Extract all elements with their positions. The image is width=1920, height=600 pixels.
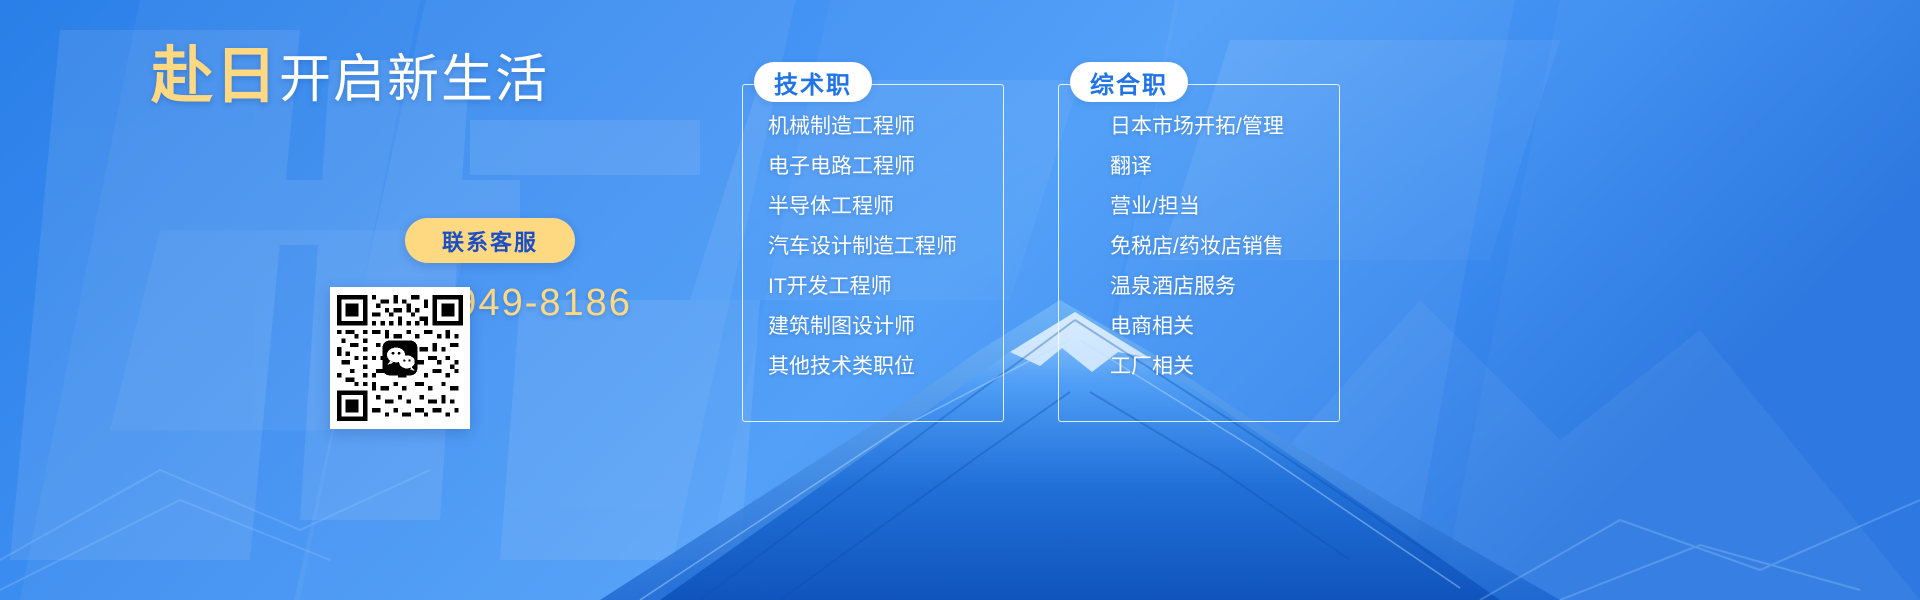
list-item[interactable]: 免税店/药妆店销售 <box>1110 236 1284 257</box>
wechat-qr-code[interactable] <box>330 287 470 429</box>
list-item[interactable]: 电子电路工程师 <box>768 156 957 177</box>
headline-rest: 开启新生活 <box>279 51 549 109</box>
job-list-technical: 机械制造工程师 电子电路工程师 半导体工程师 汽车设计制造工程师 IT开发工程师… <box>768 116 957 396</box>
contact-support-button[interactable]: 联系客服 <box>405 218 575 263</box>
list-item[interactable]: 汽车设计制造工程师 <box>768 236 957 257</box>
list-item[interactable]: 工厂相关 <box>1110 356 1284 377</box>
list-item[interactable]: 其他技术类职位 <box>768 356 957 377</box>
contact-column: 赴日开启新生活 联系客服 130-1949-8186 <box>0 0 700 600</box>
list-item[interactable]: IT开发工程师 <box>768 276 957 297</box>
headline-highlight: 赴日 <box>151 42 279 111</box>
qr-code-icon <box>337 294 463 422</box>
list-item[interactable]: 翻译 <box>1110 156 1284 177</box>
list-item[interactable]: 温泉酒店服务 <box>1110 276 1284 297</box>
job-panel-technical: 技术职 机械制造工程师 电子电路工程师 半导体工程师 汽车设计制造工程师 IT开… <box>742 62 1004 422</box>
promotional-banner: 赴日开启新生活 联系客服 130-1949-8186 <box>0 0 1920 600</box>
job-list-general: 日本市场开拓/管理 翻译 营业/担当 免税店/药妆店销售 温泉酒店服务 电商相关… <box>1110 116 1284 396</box>
panel-badge-general: 综合职 <box>1070 62 1188 102</box>
list-item[interactable]: 电商相关 <box>1110 316 1284 337</box>
list-item[interactable]: 营业/担当 <box>1110 196 1284 217</box>
list-item[interactable]: 日本市场开拓/管理 <box>1110 116 1284 137</box>
job-panel-general: 综合职 日本市场开拓/管理 翻译 营业/担当 免税店/药妆店销售 温泉酒店服务 … <box>1058 62 1340 422</box>
panel-badge-technical: 技术职 <box>754 62 872 102</box>
list-item[interactable]: 建筑制图设计师 <box>768 316 957 337</box>
list-item[interactable]: 机械制造工程师 <box>768 116 957 137</box>
list-item[interactable]: 半导体工程师 <box>768 196 957 217</box>
page-title: 赴日开启新生活 <box>0 46 700 108</box>
